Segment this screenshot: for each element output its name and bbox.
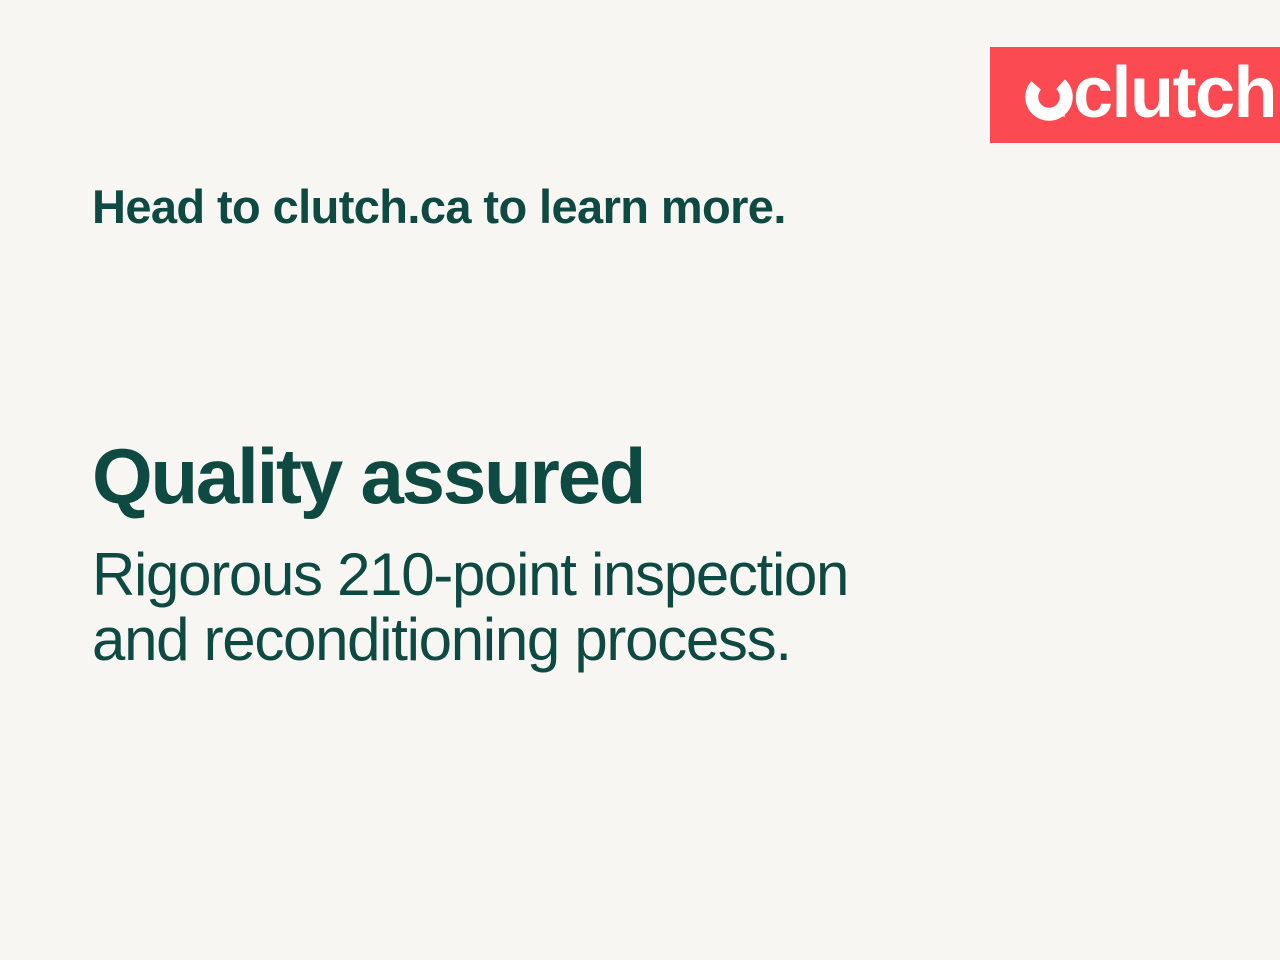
- subcopy-line-1: Rigorous 210-point inspection: [92, 543, 992, 608]
- brand-lockup: clutch: [1022, 59, 1279, 131]
- clutch-brand-badge[interactable]: clutch: [990, 47, 1280, 143]
- kicker-text: Head to clutch.ca to learn more.: [92, 182, 786, 231]
- slide-canvas: clutch Head to clutch.ca to learn more. …: [0, 0, 1280, 960]
- clutch-wordmark: clutch: [1073, 57, 1276, 129]
- subcopy-paragraph: Rigorous 210-point inspection and recond…: [92, 543, 992, 673]
- page-title: Quality assured: [92, 437, 644, 515]
- subcopy-line-2: and reconditioning process.: [92, 608, 992, 673]
- clutch-c-mark-icon: [1022, 70, 1076, 124]
